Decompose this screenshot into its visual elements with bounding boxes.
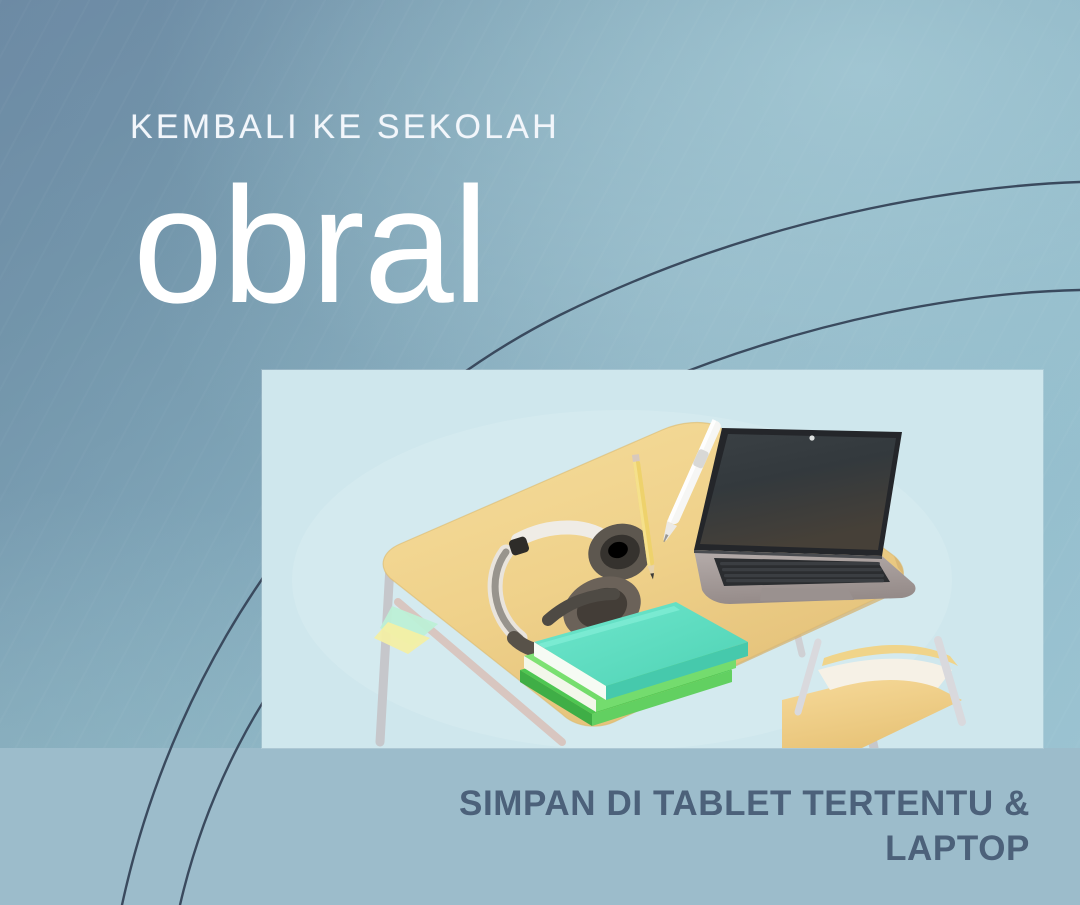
- caption-line-2: LAPTOP: [358, 827, 1030, 872]
- caption-line-1: SIMPAN DI TABLET TERTENTU &: [358, 782, 1030, 827]
- eyebrow-text: KEMBALI KE SEKOLAH: [130, 110, 560, 144]
- laptop: [694, 428, 916, 604]
- page-title: obral: [133, 163, 488, 328]
- promo-caption: SIMPAN DI TABLET TERTENTU & LAPTOP: [358, 782, 1030, 872]
- poster-canvas: KEMBALI KE SEKOLAH obral: [0, 0, 1080, 905]
- product-photo-panel: [262, 370, 1043, 748]
